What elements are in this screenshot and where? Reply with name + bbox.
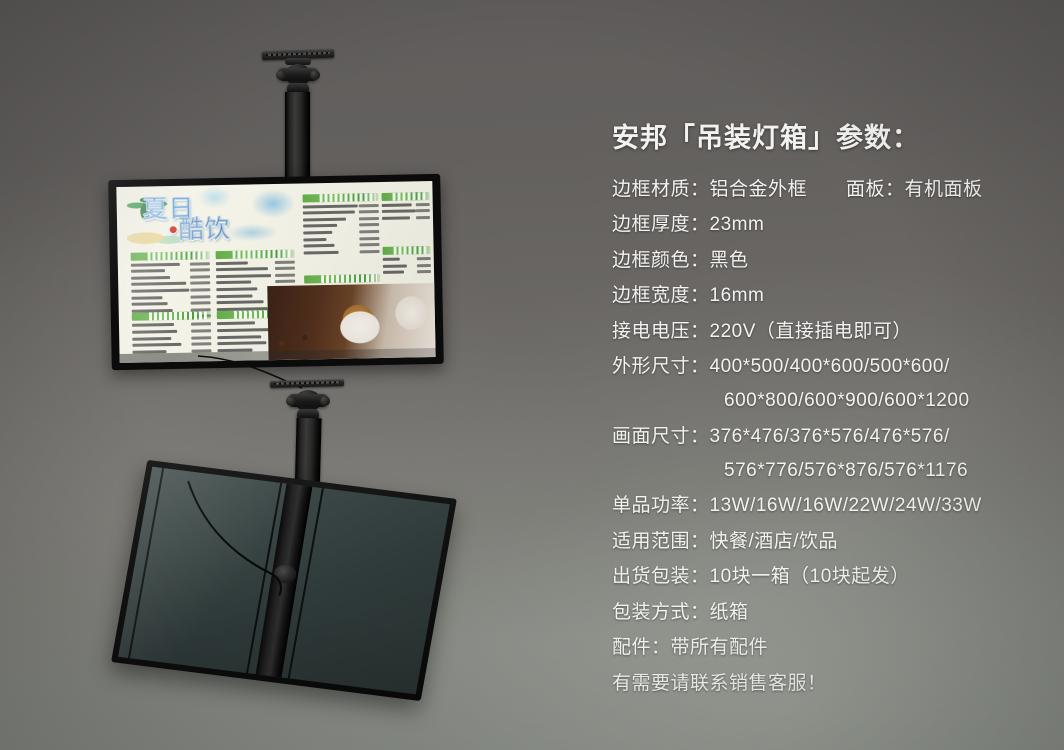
menu-item-row bbox=[382, 215, 429, 221]
mounting-rail bbox=[254, 476, 313, 685]
menu-item-row bbox=[304, 242, 380, 248]
menu-hero: 夏日 •酷饮 bbox=[116, 184, 301, 254]
section-rows bbox=[303, 203, 380, 256]
lightbox-rear-view[interactable] bbox=[111, 460, 457, 701]
menu-headline-line2: 酷饮 bbox=[178, 215, 231, 244]
spec-line-voltage: 接电电压：220V（直接插电即可） bbox=[612, 322, 1042, 341]
spec-line-frame-width: 边框宽度：16mm bbox=[612, 286, 1042, 305]
spec-line-accessories: 配件：带所有配件 bbox=[612, 638, 1042, 657]
section-header-banner bbox=[131, 312, 210, 322]
spec-line-frame-thickness: 边框厚度：23mm bbox=[612, 215, 1042, 234]
menu-item-row bbox=[131, 281, 210, 288]
menu-section bbox=[131, 312, 211, 356]
knuckle-bolt-left-top bbox=[276, 70, 286, 80]
section-header-banner bbox=[216, 249, 295, 259]
menu-item-row bbox=[216, 259, 295, 266]
panel-seam-mid bbox=[246, 483, 282, 673]
menu-headline: 夏日 •酷饮 bbox=[142, 194, 300, 245]
rear-face bbox=[118, 467, 450, 695]
menu-item-row bbox=[131, 287, 210, 294]
mount-knob[interactable] bbox=[273, 564, 298, 584]
spec-line-contact: 有需要请联系销售客服！ bbox=[612, 674, 1042, 693]
menu-item-row bbox=[304, 249, 380, 255]
menu-section bbox=[383, 246, 431, 277]
ceiling-plate-bottom bbox=[270, 379, 344, 388]
knuckle-bolt-right-top bbox=[310, 70, 320, 80]
section-header-banner bbox=[303, 193, 379, 202]
spec-line-outer-size-cont: 600*800/600*900/600*1200 bbox=[612, 391, 1042, 410]
spec-line-outer-size: 外形尺寸：400*500/400*600/500*600/ bbox=[612, 357, 1042, 376]
menu-item-row bbox=[216, 266, 295, 273]
knuckle-bolt-left-bottom bbox=[286, 396, 296, 406]
menu-item-row bbox=[303, 203, 379, 209]
menu-item-row bbox=[131, 294, 210, 301]
menu-section bbox=[382, 192, 430, 223]
panel-seam-left bbox=[128, 468, 164, 658]
menu-item-row bbox=[132, 341, 211, 348]
section-rows bbox=[382, 202, 430, 221]
menu-item-row bbox=[383, 263, 430, 269]
section-rows bbox=[132, 322, 212, 355]
menu-item-row bbox=[216, 272, 295, 279]
menu-item-row bbox=[382, 202, 429, 208]
menu-item-row bbox=[216, 279, 295, 286]
section-rows bbox=[383, 256, 431, 275]
panel-seam-right bbox=[288, 488, 324, 678]
menu-item-row bbox=[131, 267, 210, 274]
section-header-banner bbox=[304, 274, 380, 283]
power-cable-rear bbox=[118, 467, 450, 695]
spec-line-packaging: 包装方式：纸箱 bbox=[612, 603, 1042, 622]
menu-item-row bbox=[382, 208, 429, 214]
spec-line-frame-material: 边框材质：铝合金外框 面板：有机面板 bbox=[612, 180, 1042, 199]
menu-item-row bbox=[132, 335, 211, 342]
spec-line-image-size-cont: 576*776/576*876/576*1176 bbox=[612, 461, 1042, 480]
spec-text-panel: 安邦「吊装灯箱」参数： 边框材质：铝合金外框 面板：有机面板 边框厚度：23mm… bbox=[612, 124, 1042, 709]
menu-section bbox=[303, 193, 380, 257]
spec-line-frame-color: 边框颜色：黑色 bbox=[612, 251, 1042, 270]
spec-line-image-size: 画面尺寸：376*476/376*576/476*576/ bbox=[612, 427, 1042, 446]
section-header-banner bbox=[130, 251, 209, 261]
drop-tube-top bbox=[285, 92, 310, 184]
menu-item-row bbox=[130, 261, 209, 268]
spec-line-application: 适用范围：快餐/酒店/饮品 bbox=[612, 532, 1042, 551]
hanging-lightbox-front[interactable]: 夏日 •酷饮 bbox=[108, 174, 444, 370]
section-header-banner bbox=[383, 246, 431, 255]
menu-item-row bbox=[304, 222, 380, 228]
product-photo-canvas: 夏日 •酷饮 bbox=[0, 0, 1064, 750]
menu-item-row bbox=[132, 328, 211, 335]
section-header-banner bbox=[382, 192, 430, 201]
spec-title: 安邦「吊装灯箱」参数： bbox=[612, 124, 1042, 154]
menu-item-row bbox=[383, 256, 430, 262]
spec-line-power: 单品功率：13W/16W/16W/22W/24W/33W bbox=[612, 496, 1042, 515]
menu-item-row bbox=[131, 274, 210, 281]
menu-item-row bbox=[304, 236, 380, 242]
ceiling-mount-bracket-top bbox=[252, 50, 344, 182]
menu-item-row bbox=[131, 300, 210, 307]
spec-line-shipping-pack: 出货包装：10块一箱（10块起发） bbox=[612, 567, 1042, 586]
knuckle-bolt-right-bottom bbox=[320, 396, 330, 406]
menu-item-row bbox=[383, 269, 430, 275]
menu-item-row bbox=[132, 322, 211, 329]
menu-item-row bbox=[303, 209, 379, 215]
plate-holes-top bbox=[266, 52, 329, 57]
plate-holes-bottom bbox=[274, 381, 339, 384]
menu-poster: 夏日 •酷饮 bbox=[116, 181, 435, 363]
menu-item-row bbox=[304, 229, 380, 235]
menu-item-row bbox=[303, 216, 379, 222]
